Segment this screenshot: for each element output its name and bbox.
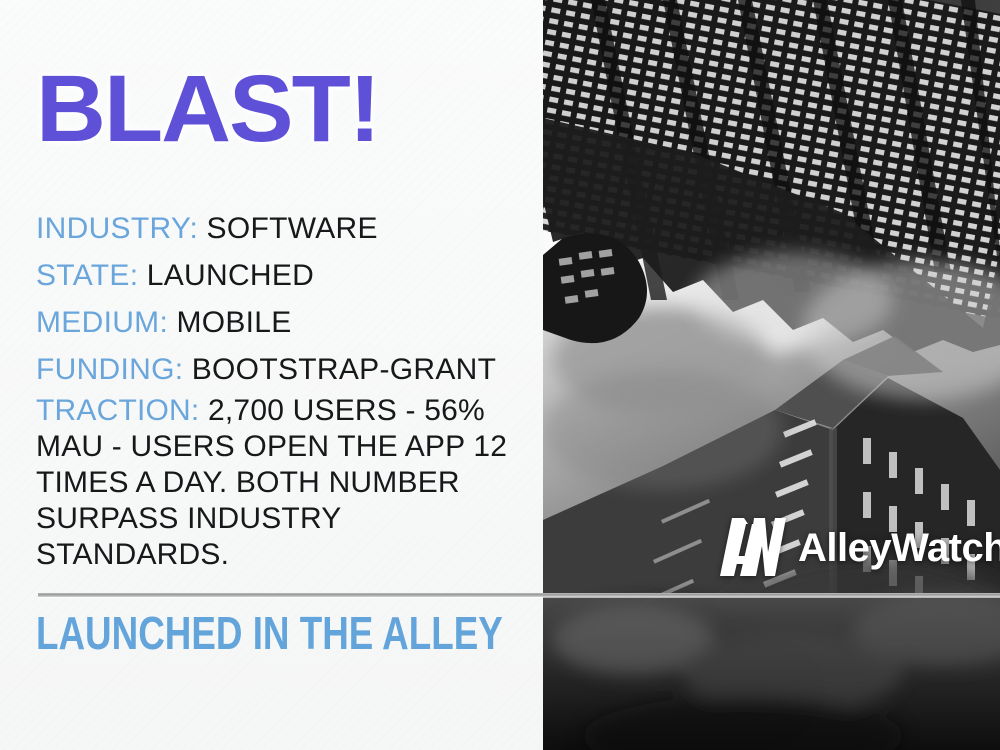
fact-value-state: LAUNCHED xyxy=(147,259,314,292)
blast-startup-card: BLAST! INDUSTRY: SOFTWARE STATE: LAUNCHE… xyxy=(0,0,1000,750)
fact-row-industry: INDUSTRY: SOFTWARE xyxy=(36,205,536,252)
fact-value-funding: BOOTSTRAP-GRANT xyxy=(192,353,497,386)
fact-row-state: STATE: LAUNCHED xyxy=(36,252,536,299)
aw-monogram-icon xyxy=(718,518,786,578)
building-photo-artwork xyxy=(543,0,1000,750)
fact-label-medium: MEDIUM: xyxy=(36,306,168,339)
fact-label-funding: FUNDING: xyxy=(36,353,183,386)
fact-label-industry: INDUSTRY: xyxy=(36,212,198,245)
fact-row-medium: MEDIUM: MOBILE xyxy=(36,299,536,346)
alleywatch-wordmark: AlleyWatch xyxy=(798,528,1000,568)
fact-label-traction: TRACTION: xyxy=(36,394,199,427)
fact-label-state: STATE: xyxy=(36,259,138,292)
fact-value-industry: SOFTWARE xyxy=(207,212,378,245)
fact-list: INDUSTRY: SOFTWARE STATE: LAUNCHED MEDIU… xyxy=(36,205,536,393)
fact-value-medium: MOBILE xyxy=(176,306,291,339)
alleywatch-logo: AlleyWatch xyxy=(718,518,1000,578)
fact-row-funding: FUNDING: BOOTSTRAP-GRANT xyxy=(36,346,536,393)
building-photo xyxy=(543,0,1000,750)
banner-launched-in-the-alley: LAUNCHED IN THE ALLEY xyxy=(36,607,503,659)
page-title: BLAST! xyxy=(36,62,379,157)
divider-rule xyxy=(38,593,1000,597)
fact-row-traction: TRACTION: 2,700 USERS - 56% MAU - USERS … xyxy=(36,393,514,573)
